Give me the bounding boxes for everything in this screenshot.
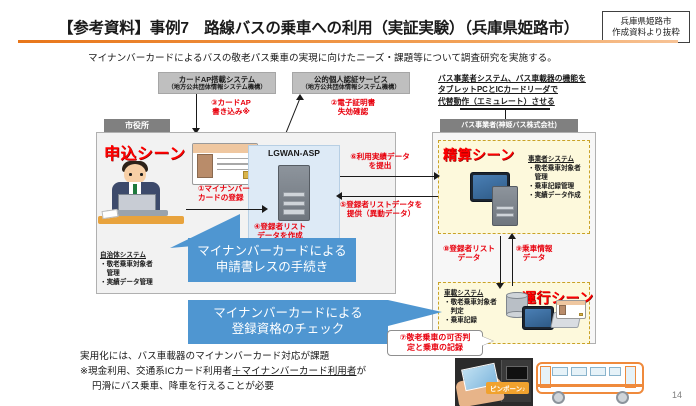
step-5-label: ⑤登録者リストデータを 提供（異動データ） <box>326 200 436 219</box>
server-slot-2 <box>283 201 305 206</box>
bus-window-1 <box>552 367 568 376</box>
callout-step-7-tail <box>481 336 493 346</box>
banner-1-line1: マイナンバーカードによる <box>197 244 346 260</box>
org-box-jpki-line2: （地方公共団体情報システム機構） <box>302 84 401 92</box>
org-box-card-ap-line2: （地方公共団体情報システム機構） <box>168 84 267 92</box>
step-2-line2: 失効確認 <box>338 107 368 116</box>
city-system-note: 自治体システム ・敬老乗車対象者 管理 ・実績データ管理 <box>100 252 170 288</box>
step-1-label: ①マイナンバー カードの登録 <box>198 184 282 203</box>
onboard-system-note: 車載システム ・敬老乗車対象者 判定 ・乗車記録 <box>444 290 506 326</box>
operator-system-heading: 事業者システム <box>528 156 590 165</box>
operator-system-note: 事業者システム ・敬老乗車対象者 管理 ・乗車記録管理 ・実績データ作成 <box>528 156 590 200</box>
arrow-step-5-head <box>336 192 342 200</box>
step-3-label: ③カードAP 書き込み※ <box>196 98 266 117</box>
bus-wheel-rear <box>616 391 629 404</box>
step-1-line2: カードの登録 <box>198 193 244 202</box>
footer-notes: 実用化には、バス車載器のマイナンバーカード対応が課題 ※現金利用、交通系ICカー… <box>80 350 410 395</box>
step-7-line2: 定と乗車の記録 <box>407 343 463 353</box>
banner-registration-check: マイナンバーカードによる 登録資格のチェック <box>188 300 388 344</box>
arrow-step-6 <box>340 176 438 177</box>
pinpon-badge: ピンポーン♪ <box>486 382 529 394</box>
server-slot-3 <box>283 209 305 214</box>
title-bar: 【参考資料】事例7 路線バスの乗車への利用（実証実験）（兵庫県姫路市） 兵庫県姫… <box>0 8 696 38</box>
scene-title-settlement: 精算シーン <box>443 145 515 165</box>
step-6-line2: を提出 <box>369 161 392 170</box>
city-system-item-3: ・実績データ管理 <box>100 279 153 286</box>
step-2-label: ②電子証明書 失効確認 <box>316 98 390 117</box>
arrow-card-ap-down <box>196 94 197 130</box>
footer-line-1: 実用化には、バス車載器のマイナンバーカード対応が課題 <box>80 350 410 365</box>
step-6-line1: ⑥利用実績データ <box>350 152 410 161</box>
operator-server-slot-1 <box>496 206 513 210</box>
footer-line-2a: ※現金利用、交通系ICカード利用者 <box>80 366 232 377</box>
onboard-tablet-screen <box>525 309 551 327</box>
bus-window-4 <box>609 367 621 376</box>
bus-operator-tab: バス事業者(神姫バス株式会社) <box>440 119 578 133</box>
bus-window-2 <box>571 367 587 376</box>
card-line-2 <box>217 163 252 164</box>
arrow-step-9-up <box>512 236 513 286</box>
step-5-line1: ⑤登録者リストデータを <box>340 200 422 209</box>
photo-fare-machine-screen <box>506 366 528 380</box>
org-box-jpki: 公的個人認証サービス （地方公共団体情報システム機構） <box>292 72 410 94</box>
step-5-line2: 提供（異動データ） <box>347 209 415 218</box>
slide-canvas: 【参考資料】事例7 路線バスの乗車への利用（実証実験）（兵庫県姫路市） 兵庫県姫… <box>0 0 696 406</box>
bus-stripe <box>538 384 642 387</box>
card-line-1 <box>217 158 252 159</box>
step-3-line1: ③カードAP <box>211 98 251 107</box>
operator-system-item-2: 管理 <box>528 174 548 181</box>
banner-2-pointer <box>388 292 442 332</box>
onboard-card-header <box>557 301 585 305</box>
bus-wheel-front <box>552 391 565 404</box>
clerk-laptop-screen <box>118 194 156 211</box>
lead-description: マイナンバーカードによるバスの敬老パス乗車の実現に向けたニーズ・課題等について調… <box>88 50 648 64</box>
note-emulation: バス事業者システム、バス車載器の機能を タブレットPCとICカードリーダで 代替… <box>438 73 688 107</box>
step-4-line1: ④登録者リスト <box>254 222 306 231</box>
operator-system-item-1: ・敬老乗車対象者 <box>528 165 581 172</box>
org-box-jpki-line1: 公的個人認証サービス <box>314 75 388 84</box>
org-box-card-ap-line1: カードAP搭載システム <box>179 75 256 84</box>
arrow-step-1-head <box>262 205 268 213</box>
source-attribution-box: 兵庫県姫路市 作成資料より抜粋 <box>602 11 690 43</box>
step-8-label: ⑧登録者リスト データ <box>438 244 500 263</box>
footer-line-3: 円滑にバス乗車、降車を行えることが必要 <box>80 380 410 395</box>
onboard-system-heading: 車載システム <box>444 290 506 299</box>
onboard-system-item-1: ・敬老乗車対象者 <box>444 299 497 306</box>
arrow-step-5 <box>340 196 438 197</box>
page-number: 14 <box>672 390 682 400</box>
note-emulation-line1: バス事業者システム、バス車載器の機能を <box>438 73 688 84</box>
arrow-step-8-head <box>496 283 504 289</box>
arrow-jpki-up-head <box>296 94 304 100</box>
step-9-label: ⑨乗車情報 データ <box>506 244 562 263</box>
operator-system-item-3: ・乗車記録管理 <box>528 183 574 190</box>
step-6-label: ⑥利用実績データ を提出 <box>328 152 432 171</box>
photo-fare-machine <box>501 360 531 402</box>
footer-line-2c: が <box>356 366 366 377</box>
step-7-line1: ⑦敬老乗車の可否判 <box>400 333 471 343</box>
step-9-line2: データ <box>523 253 546 262</box>
org-box-card-ap: カードAP搭載システム （地方公共団体情報システム機構） <box>158 72 276 94</box>
clerk-eye-left <box>129 173 132 176</box>
step-8-line2: データ <box>458 253 481 262</box>
footer-line-2b: ＋マイナンバーカード利用者 <box>232 366 357 377</box>
arrow-step-9-head <box>508 233 516 239</box>
banner-2-line1: マイナンバーカードによる <box>213 306 362 322</box>
source-line-2: 作成資料より抜粋 <box>612 27 680 38</box>
onboard-system-item-2: 判定 <box>444 308 464 315</box>
operator-server-slot-2 <box>496 213 513 217</box>
arrow-step-1 <box>186 209 264 210</box>
banner-paperless-procedure: マイナンバーカードによる 申請書レスの手続き <box>188 238 356 282</box>
onboard-card-photo <box>559 305 566 315</box>
onboard-tablet-icon <box>522 306 554 330</box>
city-system-heading: 自治体システム <box>100 252 170 261</box>
step-9-line1: ⑨乗車情報 <box>516 244 553 253</box>
city-system-item-2: 管理 <box>100 270 120 277</box>
title-underline-rule <box>18 40 678 43</box>
source-line-1: 兵庫県姫路市 <box>620 16 671 27</box>
onboard-mynumber-card <box>556 300 586 319</box>
banner-1-line2: 申請書レスの手続き <box>216 260 329 276</box>
arrow-step-8-down <box>500 236 501 286</box>
step-2-line1: ②電子証明書 <box>331 98 375 107</box>
step-1-line1: ①マイナンバー <box>198 184 250 193</box>
step-8-line1: ⑧登録者リスト <box>443 244 495 253</box>
clerk-eye-right <box>140 173 143 176</box>
arrow-step-6-head <box>434 172 440 180</box>
onboard-system-item-3: ・乗車記録 <box>444 317 477 324</box>
footer-line-2: ※現金利用、交通系ICカード利用者＋マイナンバーカード利用者が <box>80 365 410 380</box>
banner-2-line2: 登録資格のチェック <box>232 322 345 338</box>
bus-illustration <box>530 360 650 404</box>
operator-system-item-4: ・実績データ作成 <box>528 192 581 199</box>
step-3-line2: 書き込み※ <box>212 107 250 116</box>
card-photo <box>197 154 214 177</box>
note-emulation-line2: タブレットPCとICカードリーダで <box>438 84 688 95</box>
operator-server-icon <box>492 186 518 226</box>
page-title: 【参考資料】事例7 路線バスの乗車への利用（実証実験）（兵庫県姫路市） <box>58 16 598 38</box>
clerk-head <box>124 164 146 184</box>
onboard-card-chip <box>579 313 583 316</box>
lgwan-asp-label: LGWAN-ASP <box>248 148 340 158</box>
city-system-item-1: ・敬老乗車対象者 <box>100 261 153 268</box>
server-slot-1 <box>283 192 305 197</box>
city-hall-tab: 市役所 <box>104 119 170 133</box>
lgwan-asp-server-icon <box>278 165 310 221</box>
bus-window-3 <box>590 367 606 376</box>
card-line-3 <box>217 169 252 170</box>
note-emulation-line3: 代替動作（エミュレート）させる <box>438 96 688 107</box>
